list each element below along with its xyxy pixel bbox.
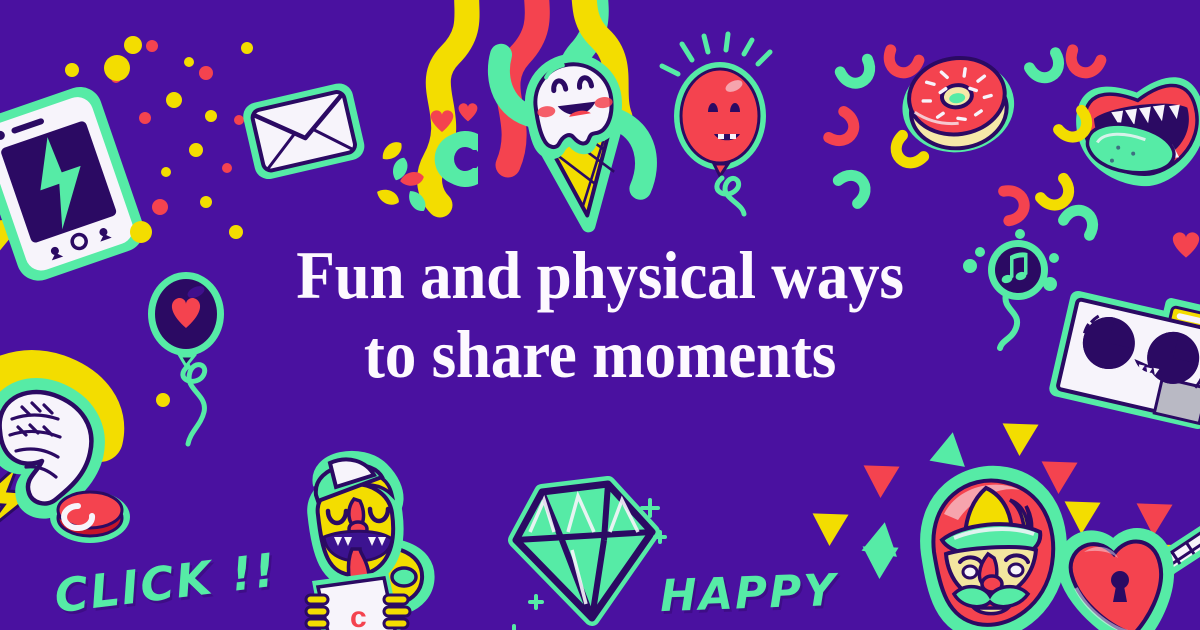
confetti-triangle	[859, 544, 900, 581]
heart-lock-key-sticker	[1062, 518, 1200, 630]
bearded-man-face-sticker	[900, 462, 1080, 630]
confetti-triangle	[860, 463, 901, 500]
happy-wordmark: HAPPY	[659, 565, 838, 622]
confetti-triangle	[999, 421, 1040, 458]
poster-canvas: c	[0, 0, 1200, 630]
confetti-triangle	[809, 511, 850, 548]
